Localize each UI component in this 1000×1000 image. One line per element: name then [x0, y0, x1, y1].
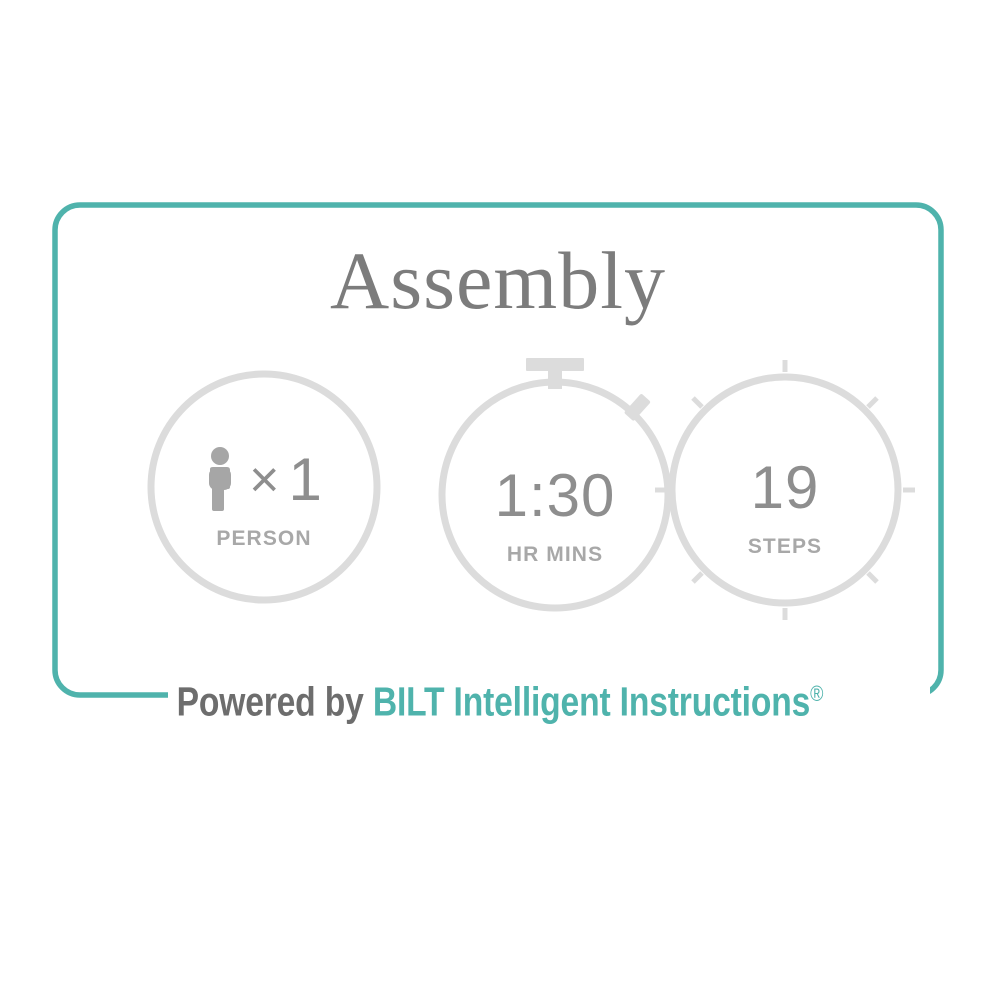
- registered-trademark-icon: ®: [810, 681, 823, 706]
- footer-powered-by-text: Powered by: [177, 679, 373, 725]
- stat-badge-time: 1:30 HR MINS: [425, 352, 685, 642]
- stat-badge-steps: 19 STEPS: [655, 352, 915, 642]
- footer-attribution: Powered by BILT Intelligent Instructions…: [90, 668, 910, 728]
- page-title: Assembly: [55, 233, 941, 329]
- stat-badge-person: × 1 PERSON: [134, 352, 394, 642]
- person-multiplier: ×: [249, 450, 280, 510]
- steps-value: 19: [751, 458, 820, 518]
- time-label: HR MINS: [507, 543, 603, 567]
- person-label: PERSON: [216, 527, 311, 551]
- person-icon: [205, 447, 239, 513]
- time-value-row: 1:30: [495, 459, 616, 533]
- steps-label: STEPS: [748, 535, 822, 559]
- assembly-info-card: Assembly × 1 PERSON: [0, 0, 1000, 1000]
- time-value: 1:30: [495, 466, 616, 526]
- steps-value-row: 19: [751, 451, 820, 525]
- person-value-row: × 1: [205, 443, 323, 517]
- person-count: 1: [289, 450, 323, 510]
- stats-row: × 1 PERSON 1:30 HR MINS: [55, 352, 941, 642]
- footer-brand-text: BILT Intelligent Instructions: [373, 679, 810, 725]
